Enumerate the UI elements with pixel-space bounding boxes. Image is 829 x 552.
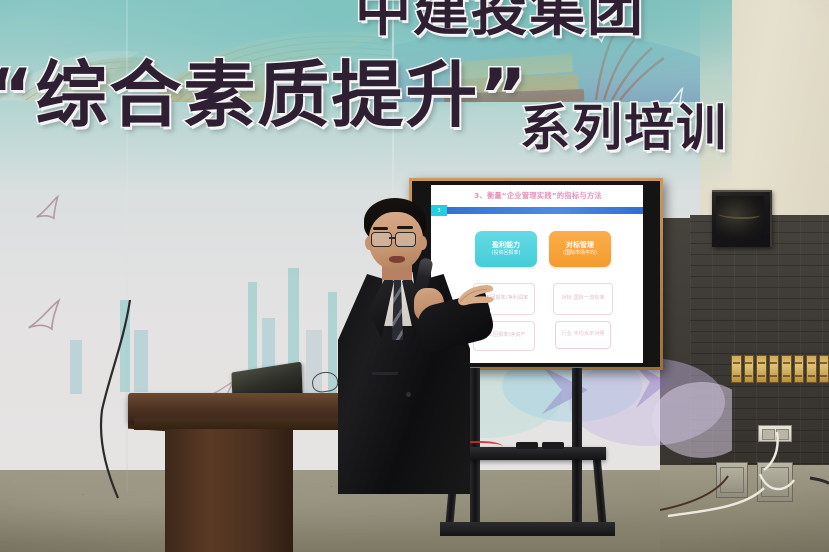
slide-subbox: 对标 国际一流标准 (553, 283, 613, 315)
photo-scene: 中建投集团 “综合素质提升” 系列培训 (0, 0, 829, 552)
slide-box-label: 对标管理 (566, 241, 594, 250)
eyeglasses-icon (371, 232, 392, 247)
wall-plaque (794, 355, 805, 383)
wall-plaque (769, 355, 780, 383)
slide-box-profitability: 盈利能力 (投资回报率) (475, 231, 537, 267)
podium-body (165, 429, 293, 552)
slide-subbox: 行业 平均水平对照 (555, 321, 611, 349)
skyline-building (70, 340, 82, 394)
bird-icon (33, 194, 80, 226)
display-stand-base (440, 522, 615, 536)
presenter-mouth (389, 256, 405, 263)
bird-icon (25, 298, 79, 336)
eyeglasses-bridge (389, 237, 396, 239)
wall-plaque (781, 355, 792, 383)
presenter-hand-right (456, 282, 496, 310)
presenter-button (406, 392, 411, 397)
presenter-brow (373, 227, 388, 230)
slide-box-label: 盈利能力 (492, 241, 520, 250)
wall-plaque-row (731, 355, 829, 385)
wall-plaque (756, 355, 767, 383)
podium-cable (96, 300, 176, 500)
eyeglasses-icon (395, 232, 416, 247)
presenter-brow (397, 226, 413, 229)
slide-box-sublabel: (投资回报率) (492, 250, 521, 257)
remote-control[interactable] (516, 442, 538, 449)
wall-plaque (744, 355, 755, 383)
wall-plaque (819, 355, 829, 383)
presenter-pocket (372, 372, 398, 375)
presenter-ear (418, 236, 427, 250)
banner-title-sub: 系列培训 (520, 88, 728, 160)
remote-control[interactable] (542, 442, 564, 449)
slide-box-sublabel: (国际市场平均) (563, 250, 597, 257)
slide-box-benchmarking: 对标管理 (国际市场平均) (549, 231, 611, 267)
wall-plaque (806, 355, 817, 383)
wall-plaque (731, 355, 742, 383)
banner-title-main: “综合素质提升” (0, 36, 529, 141)
presenter (332, 196, 482, 496)
